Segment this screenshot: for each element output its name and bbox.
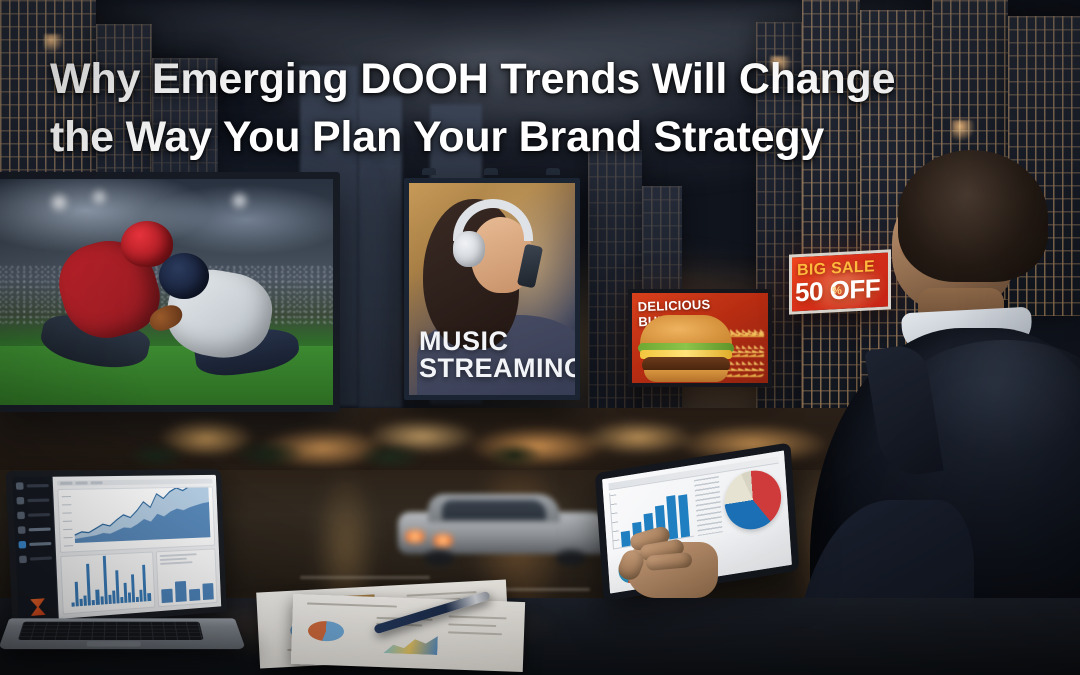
- laptop-keyboard[interactable]: [18, 622, 204, 640]
- sidebar-item-active[interactable]: [18, 540, 51, 549]
- player-navy-helmet: [159, 253, 209, 299]
- toolbar-chip[interactable]: [75, 482, 87, 485]
- laptop-screen[interactable]: [6, 469, 227, 629]
- report-text-line: [449, 615, 507, 619]
- spike-bar: [96, 589, 100, 605]
- tablet-bar-chart-axis: [610, 494, 620, 547]
- spike-bar: [143, 565, 147, 602]
- headline-line-1: Why Emerging DOOH Trends Will Change: [50, 50, 950, 108]
- music-billboard-line2: STREAMING: [419, 355, 580, 383]
- headphones-earcup: [453, 231, 485, 267]
- sidebar-icon: [16, 482, 24, 489]
- laptop-trackpad[interactable]: [87, 641, 141, 646]
- report-text-line: [448, 631, 502, 635]
- spike-bar: [148, 593, 151, 601]
- billboard-lamp: [484, 168, 498, 175]
- dashboard-sidebar[interactable]: [12, 477, 58, 622]
- car-taillight: [430, 534, 456, 547]
- billboard-burger: DELICIOUS BURGER: [628, 289, 772, 387]
- window-light-cluster: [952, 120, 980, 142]
- spike-bar: [120, 597, 123, 603]
- kpi-text-line: [160, 558, 188, 561]
- sidebar-icon: [16, 497, 24, 505]
- area-chart-y-axis: [62, 496, 74, 553]
- burger-bottom-bun: [644, 370, 728, 382]
- sidebar-item-label: [29, 527, 51, 531]
- car-wheel: [424, 550, 454, 566]
- sidebar-icon: [18, 541, 26, 549]
- spike-bar: [108, 595, 111, 604]
- sidebar-item[interactable]: [16, 496, 49, 504]
- moving-car: [398, 494, 616, 562]
- kpi-bar: [161, 588, 173, 603]
- billboard-sports: [0, 172, 340, 412]
- toolbar-chip[interactable]: [91, 481, 103, 484]
- kpi-bar: [189, 589, 200, 601]
- car-window: [442, 500, 546, 520]
- businessman-figure: [840, 150, 1080, 675]
- analytics-dashboard[interactable]: [12, 475, 221, 622]
- lane-marking: [300, 576, 430, 579]
- spike-bar: [128, 593, 131, 603]
- dashboard-main-panel: [53, 475, 222, 619]
- spike-chart: [70, 554, 151, 607]
- spike-bar: [100, 597, 103, 605]
- hand-holding-tablet: [620, 520, 732, 604]
- sidebar-item[interactable]: [18, 525, 51, 533]
- sidebar-item-label: [30, 556, 52, 560]
- kpi-text-line: [160, 561, 193, 565]
- headline-line-2: the Way You Plan Your Brand Strategy: [50, 108, 950, 166]
- area-chart-card: [57, 487, 215, 554]
- street-trees: [100, 432, 660, 472]
- hero-banner: MUSIC STREAMING DELICIOUS BURGER BIG SAL…: [0, 0, 1080, 675]
- sidebar-item-label: [29, 542, 51, 546]
- kpi-bar: [202, 583, 213, 600]
- sidebar-item-label: [28, 513, 50, 517]
- car-taillight: [402, 530, 428, 543]
- spike-bar: [75, 582, 79, 607]
- spike-bar: [131, 574, 135, 602]
- spike-bar: [80, 599, 83, 606]
- kpi-card: [156, 549, 218, 608]
- report-area-chart: [383, 631, 438, 655]
- laptop-device[interactable]: [4, 470, 240, 675]
- spike-chart-card: [60, 552, 155, 615]
- sidebar-item[interactable]: [17, 511, 50, 519]
- sidebar-icon: [17, 512, 25, 520]
- sidebar-item-label: [27, 484, 49, 487]
- dashboard-secondary-row: [60, 549, 217, 615]
- report-pie-chart: [308, 621, 345, 642]
- report-text-line: [448, 623, 496, 627]
- sidebar-icon: [19, 556, 27, 564]
- sidebar-item[interactable]: [16, 482, 49, 490]
- sidebar-item-label: [27, 499, 49, 503]
- burger-illustration: [640, 315, 732, 381]
- report-text-line: [407, 591, 477, 597]
- brand-logo-icon: [30, 598, 45, 616]
- sidebar-item[interactable]: [19, 554, 52, 563]
- spike-bar: [124, 583, 128, 603]
- music-billboard-text: MUSIC STREAMING: [419, 328, 580, 383]
- billboard-lamp: [422, 168, 436, 175]
- page-title: Why Emerging DOOH Trends Will Change the…: [50, 50, 950, 167]
- kpi-text-line: [159, 554, 196, 558]
- spike-bar: [84, 596, 88, 606]
- billboard-music-streaming: MUSIC STREAMING: [404, 178, 580, 400]
- spike-bar: [115, 571, 119, 604]
- dashboard-toolbar[interactable]: [57, 479, 213, 486]
- man-hair: [898, 150, 1048, 282]
- spike-bar: [112, 591, 116, 604]
- car-wheel: [556, 550, 586, 566]
- area-chart-svg: [72, 487, 210, 544]
- tablet-pie-chart: [723, 466, 783, 533]
- laptop-base: [0, 618, 246, 649]
- spike-bar: [71, 602, 74, 607]
- toolbar-chip[interactable]: [60, 482, 72, 485]
- spike-bar: [136, 597, 139, 602]
- music-billboard-line1: MUSIC: [419, 328, 580, 356]
- spike-bar: [86, 563, 91, 605]
- kpi-bar: [175, 581, 187, 602]
- spike-bar: [92, 600, 95, 606]
- billboard-lamp: [546, 168, 560, 175]
- printed-report: [291, 594, 525, 672]
- sidebar-icon: [18, 526, 26, 534]
- kpi-bar-chart: [160, 571, 214, 604]
- spike-bar: [140, 590, 143, 602]
- report-text-line: [307, 602, 397, 607]
